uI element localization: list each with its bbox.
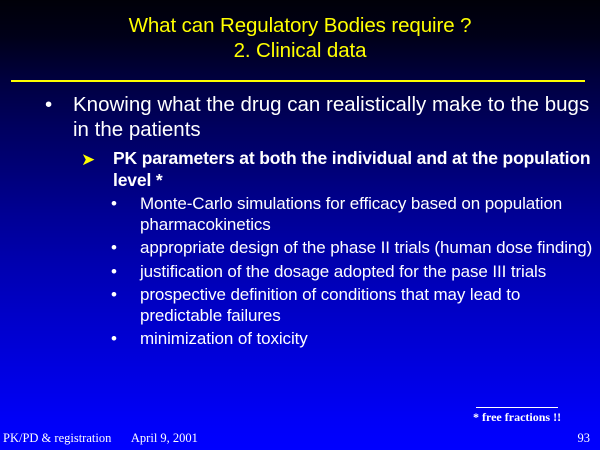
bullet-level3-text: appropriate design of the phase II trial… xyxy=(140,238,600,259)
slide-footer: PK/PD & registration April 9, 2001 xyxy=(3,431,198,446)
footnote-text: * free fractions !! xyxy=(473,410,561,424)
bullet-level3-item: • Monte-Carlo simulations for efficacy b… xyxy=(0,194,600,235)
bullet-level3-item: • prospective definition of conditions t… xyxy=(0,285,600,326)
bullet-level3-text: justification of the dosage adopted for … xyxy=(140,262,600,283)
page-number: 93 xyxy=(578,431,591,446)
footnote-divider-rule xyxy=(476,407,558,408)
bullet-dot-icon: • xyxy=(45,92,61,117)
bullet-dot-icon: • xyxy=(111,238,117,259)
bullet-level3-text: prospective definition of conditions tha… xyxy=(140,285,600,326)
bullet-level2: ➤ PK parameters at both the individual a… xyxy=(0,148,600,191)
footer-date: April 9, 2001 xyxy=(131,431,198,445)
slide-title-line-1: What can Regulatory Bodies require ? xyxy=(0,13,600,38)
title-divider-rule xyxy=(11,80,585,82)
footer-source: PK/PD & registration xyxy=(3,431,111,445)
bullet-dot-icon: • xyxy=(111,285,117,306)
bullet-level3-item: • minimization of toxicity xyxy=(0,329,600,350)
bullet-level3-text: minimization of toxicity xyxy=(140,329,600,350)
slide-body: • Knowing what the drug can realisticall… xyxy=(0,92,600,350)
bullet-level3-text: Monte-Carlo simulations for efficacy bas… xyxy=(140,194,600,235)
slide-title-line-2: 2. Clinical data xyxy=(0,38,600,63)
slide-title: What can Regulatory Bodies require ? 2. … xyxy=(0,13,600,63)
bullet-level1-text: Knowing what the drug can realistically … xyxy=(73,92,600,142)
presentation-slide: What can Regulatory Bodies require ? 2. … xyxy=(0,0,600,450)
bullet-dot-icon: • xyxy=(111,329,117,350)
bullet-dot-icon: • xyxy=(111,262,117,283)
bullet-dot-icon: • xyxy=(111,194,117,215)
bullet-level1: • Knowing what the drug can realisticall… xyxy=(0,92,600,142)
arrow-right-icon: ➤ xyxy=(81,149,95,171)
bullet-level2-text: PK parameters at both the individual and… xyxy=(113,148,600,191)
bullet-level3-item: • justification of the dosage adopted fo… xyxy=(0,262,600,283)
bullet-level3-item: • appropriate design of the phase II tri… xyxy=(0,238,600,259)
